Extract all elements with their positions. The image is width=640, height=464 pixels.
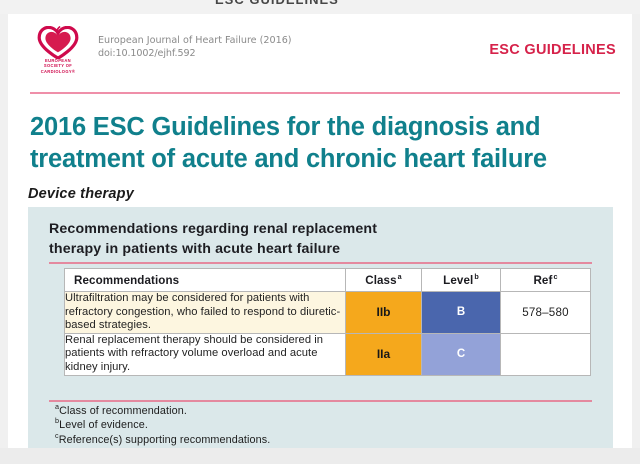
cell-class-value: IIa [346, 333, 422, 375]
document-page: EUROPEAN SOCIETY OF CARDIOLOGY® European… [8, 14, 632, 448]
esc-logo: EUROPEAN SOCIETY OF CARDIOLOGY® [30, 26, 86, 74]
journal-header: EUROPEAN SOCIETY OF CARDIOLOGY® European… [30, 24, 618, 76]
footnote-c: cReference(s) supporting recommendations… [54, 433, 270, 448]
cell-ref-value [501, 333, 591, 375]
cell-recommendation-text: Ultrafiltration may be considered for pa… [65, 292, 346, 334]
column-header-class: Classa [346, 269, 422, 292]
column-header-ref: Refc [501, 269, 591, 292]
cell-class-value: IIb [346, 292, 422, 334]
recommendation-box-top-rule [49, 262, 592, 264]
table-row: Ultrafiltration may be considered for pa… [65, 292, 591, 334]
journal-doi: doi:10.1002/ejhf.592 [98, 47, 292, 60]
page-title-line-2: treatment of acute and chronic heart fai… [30, 143, 608, 175]
footnote-c-text: Reference(s) supporting recommendations. [59, 434, 271, 446]
recommendation-box: Recommendations regarding renal replacem… [28, 207, 613, 459]
page-title: 2016 ESC Guidelines for the diagnosis an… [30, 111, 608, 175]
column-header-recommendations: Recommendations [65, 269, 346, 292]
recommendations-table: Recommendations Classa Levelb Refc [64, 268, 591, 376]
header-divider [30, 92, 620, 94]
footnote-b-text: Level of evidence. [59, 419, 148, 431]
footnote-a-text: Class of recommendation. [59, 405, 187, 417]
left-gutter [0, 14, 8, 448]
esc-logo-wordmark: EUROPEAN SOCIETY OF CARDIOLOGY® [30, 58, 86, 74]
slide-canvas: ESC GUIDELINES EUROPEAN SOCIETY OF CARDI… [0, 0, 640, 464]
cell-ref-value: 578–580 [501, 292, 591, 334]
section-heading: Device therapy [28, 186, 134, 202]
column-header-level-label: Level [443, 274, 473, 287]
footnote-b: bLevel of evidence. [54, 418, 270, 433]
column-header-recommendations-label: Recommendations [74, 274, 179, 287]
heart-icon [37, 26, 79, 59]
cell-level-value: C [422, 333, 501, 375]
journal-citation: European Journal of Heart Failure (2016)… [98, 34, 292, 60]
column-header-ref-superscript: c [552, 272, 557, 281]
footnotes: aClass of recommendation. bLevel of evid… [54, 404, 270, 448]
recommendation-box-title-line-1: Recommendations regarding renal replacem… [49, 219, 573, 239]
column-header-level-superscript: b [473, 272, 479, 281]
column-header-ref-label: Ref [533, 274, 552, 287]
footnote-a: aClass of recommendation. [54, 404, 270, 419]
column-header-class-label: Class [365, 274, 396, 287]
recommendation-box-title-line-2: therapy in patients with acute heart fai… [49, 239, 573, 259]
esc-guidelines-label: ESC GUIDELINES [489, 42, 616, 58]
recommendation-box-bottom-rule [49, 400, 592, 402]
column-header-level: Levelb [422, 269, 501, 292]
table-header-row: Recommendations Classa Levelb Refc [65, 269, 591, 292]
right-gutter [632, 14, 640, 448]
cell-level-value: B [422, 292, 501, 334]
esc-logo-line-3: CARDIOLOGY® [30, 69, 86, 74]
cell-recommendation-text: Renal replacement therapy should be cons… [65, 333, 346, 375]
top-cropped-text: ESC GUIDELINES [215, 0, 430, 6]
page-title-line-1: 2016 ESC Guidelines for the diagnosis an… [30, 111, 608, 143]
bottom-strip [0, 448, 640, 464]
column-header-class-superscript: a [397, 272, 402, 281]
table-row: Renal replacement therapy should be cons… [65, 333, 591, 375]
top-cropped-strip: ESC GUIDELINES [0, 0, 640, 14]
journal-name-year: European Journal of Heart Failure (2016) [98, 34, 292, 47]
recommendation-box-title: Recommendations regarding renal replacem… [49, 219, 573, 259]
